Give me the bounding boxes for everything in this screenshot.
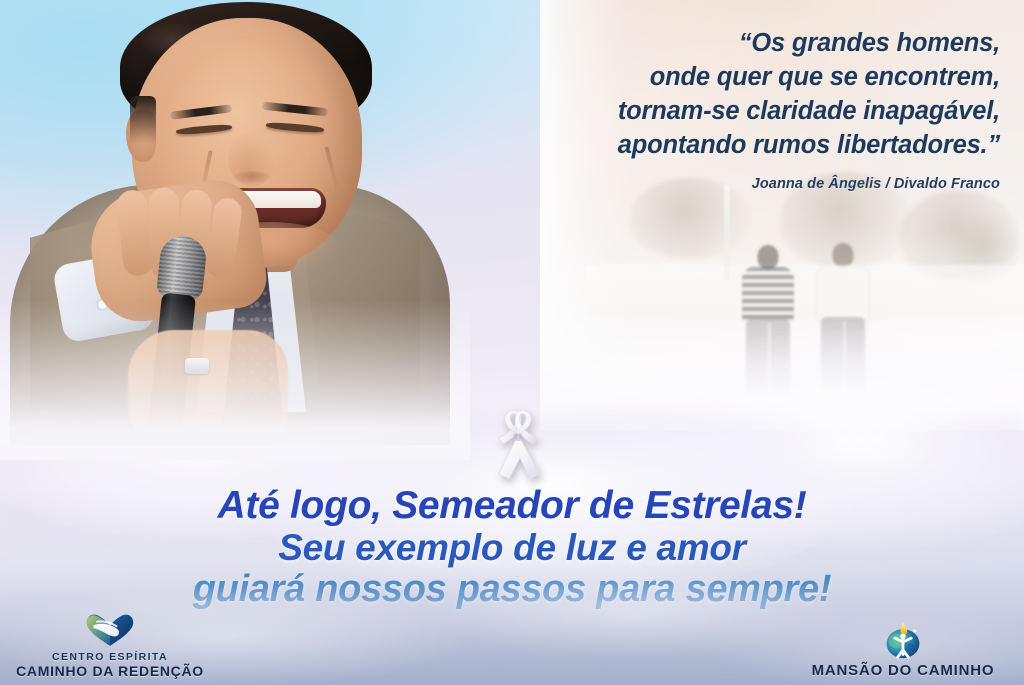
logo-left-line-2: CAMINHO DA REDENÇÃO (10, 663, 210, 679)
figure-head (758, 245, 779, 269)
portrait-fade-overlay (0, 300, 470, 460)
figure-legs (821, 317, 865, 393)
nose (228, 132, 276, 186)
logo-centro-espirita[interactable]: CENTRO ESPÍRITA CAMINHO DA REDENÇÃO (10, 609, 210, 679)
logo-right-line-1: MANSÃO DO CAMINHO (788, 662, 1018, 679)
quote-line-1: “Os grandes homens, (360, 26, 1000, 60)
headline-line-2: Seu exemplo de luz e amor (0, 527, 1024, 568)
figure-torso (816, 265, 870, 322)
background-figure-white-shirt (812, 243, 874, 395)
quote-line-3: tornam-se claridade inapagável, (360, 94, 1000, 128)
quote-line-4: apontando rumos libertadores.” (360, 128, 1000, 162)
figure-torso (742, 267, 794, 322)
quote-line-2: onde quer que se encontrem, (360, 60, 1000, 94)
memorial-poster: “Os grandes homens, onde quer que se enc… (0, 0, 1024, 685)
sideburn (130, 96, 156, 144)
white-ribbon-icon (489, 408, 547, 480)
background-pole (724, 185, 730, 280)
background-figure-striped-shirt (738, 245, 798, 395)
quote-block: “Os grandes homens, onde quer que se enc… (360, 26, 1000, 192)
figure-legs (746, 319, 790, 395)
globe-figure-flame-icon (788, 620, 1018, 660)
microphone-head (156, 234, 208, 300)
quote-attribution: Joanna de Ângelis / Divaldo Franco (360, 176, 1000, 192)
background-wall (585, 265, 1024, 317)
heart-hands-icon (10, 609, 210, 649)
headline-line-1: Até logo, Semeador de Estrelas! (0, 485, 1024, 527)
figure-head (833, 243, 854, 267)
logo-left-line-1: CENTRO ESPÍRITA (10, 651, 210, 663)
logo-mansao-do-caminho[interactable]: MANSÃO DO CAMINHO (788, 620, 1018, 679)
